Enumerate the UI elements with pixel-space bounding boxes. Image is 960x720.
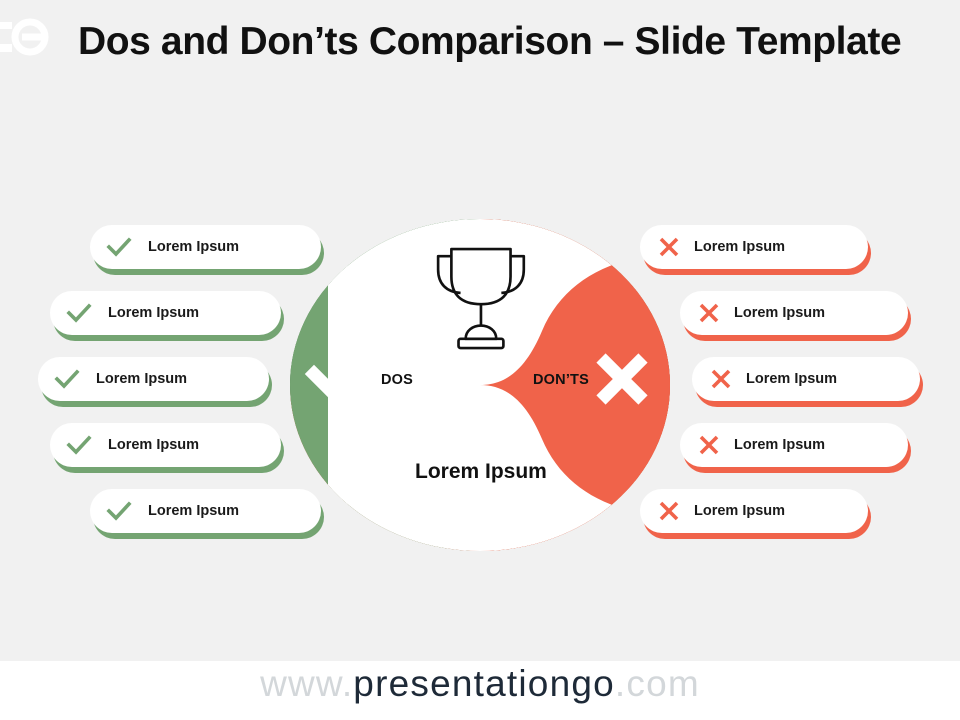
check-icon [52, 364, 82, 394]
page-title: Dos and Don’ts Comparison – Slide Templa… [78, 18, 918, 66]
footer-prefix: www. [260, 663, 353, 704]
donts-item-label: Lorem Ipsum [694, 239, 785, 255]
donts-item-label: Lorem Ipsum [734, 437, 825, 453]
cross-icon [694, 430, 724, 460]
check-icon [104, 232, 134, 262]
donts-item-5[interactable]: Lorem Ipsum [640, 489, 868, 533]
dos-item-label: Lorem Ipsum [148, 503, 239, 519]
cross-icon [694, 298, 724, 328]
footer-brand: presentationgo [353, 663, 615, 704]
donts-label: DON’TS [533, 372, 589, 388]
donts-item-label: Lorem Ipsum [746, 371, 837, 387]
donts-item-4[interactable]: Lorem Ipsum [680, 423, 908, 467]
donts-item-1[interactable]: Lorem Ipsum [640, 225, 868, 269]
donts-item-label: Lorem Ipsum [694, 503, 785, 519]
dos-item-4[interactable]: Lorem Ipsum [50, 423, 281, 467]
footer-suffix: .com [615, 663, 700, 704]
donts-item-3[interactable]: Lorem Ipsum [692, 357, 920, 401]
dos-item-label: Lorem Ipsum [148, 239, 239, 255]
check-icon [64, 298, 94, 328]
cross-icon [654, 496, 684, 526]
check-icon [104, 496, 134, 526]
donts-item-label: Lorem Ipsum [734, 305, 825, 321]
dos-label: DOS [381, 372, 413, 388]
center-caption: Lorem Ipsum [415, 460, 547, 484]
dos-item-5[interactable]: Lorem Ipsum [90, 489, 321, 533]
dos-item-2[interactable]: Lorem Ipsum [50, 291, 281, 335]
slide-canvas: Dos and Don’ts Comparison – Slide Templa… [0, 0, 960, 720]
check-icon [64, 430, 94, 460]
dos-item-label: Lorem Ipsum [108, 305, 199, 321]
donts-item-2[interactable]: Lorem Ipsum [680, 291, 908, 335]
dos-item-1[interactable]: Lorem Ipsum [90, 225, 321, 269]
dos-donts-center-graphic [290, 219, 670, 551]
dos-item-3[interactable]: Lorem Ipsum [38, 357, 269, 401]
dos-item-label: Lorem Ipsum [108, 437, 199, 453]
presentationgo-logo-icon [0, 14, 52, 60]
cross-icon [654, 232, 684, 262]
cross-icon [706, 364, 736, 394]
footer-website: www.presentationgo.com [0, 663, 960, 705]
dos-item-label: Lorem Ipsum [96, 371, 187, 387]
